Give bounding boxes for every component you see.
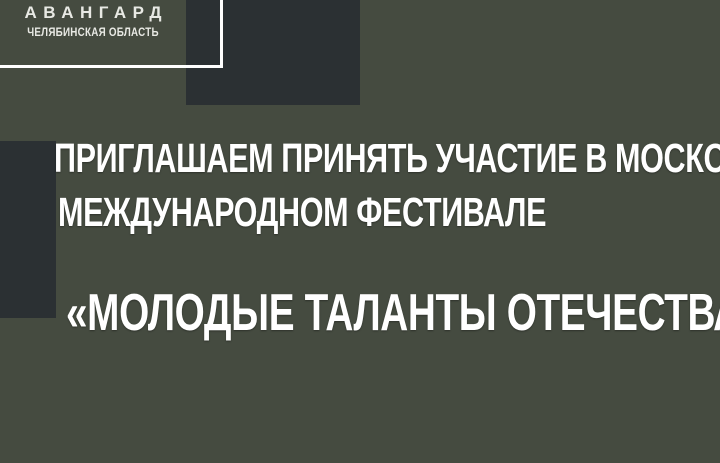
decorative-block-left [0,141,56,318]
logo-subtitle: ЧЕЛЯБИНСКАЯ ОБЛАСТЬ [17,26,170,38]
headline-line-1: ПРИГЛАШАЕМ ПРИНЯТЬ УЧАСТИЕ В МОСКОВСКОМ [54,138,720,179]
logo-name: АВАНГАРД [0,4,186,21]
corner-rule-vertical [220,0,223,68]
corner-rule-horizontal [0,65,223,68]
logo-lockup: АВАНГАРД ЧЕЛЯБИНСКАЯ ОБЛАСТЬ [0,4,186,38]
decorative-block-top [186,0,360,105]
headline-line-3: «МОЛОДЫЕ ТАЛАНТЫ ОТЕЧЕСТВА» [66,287,720,339]
headline-line-2: МЕЖДУНАРОДНОМ ФЕСТИВАЛЕ [58,192,546,233]
poster-banner: АВАНГАРД ЧЕЛЯБИНСКАЯ ОБЛАСТЬ ПРИГЛАШАЕМ … [0,0,720,463]
